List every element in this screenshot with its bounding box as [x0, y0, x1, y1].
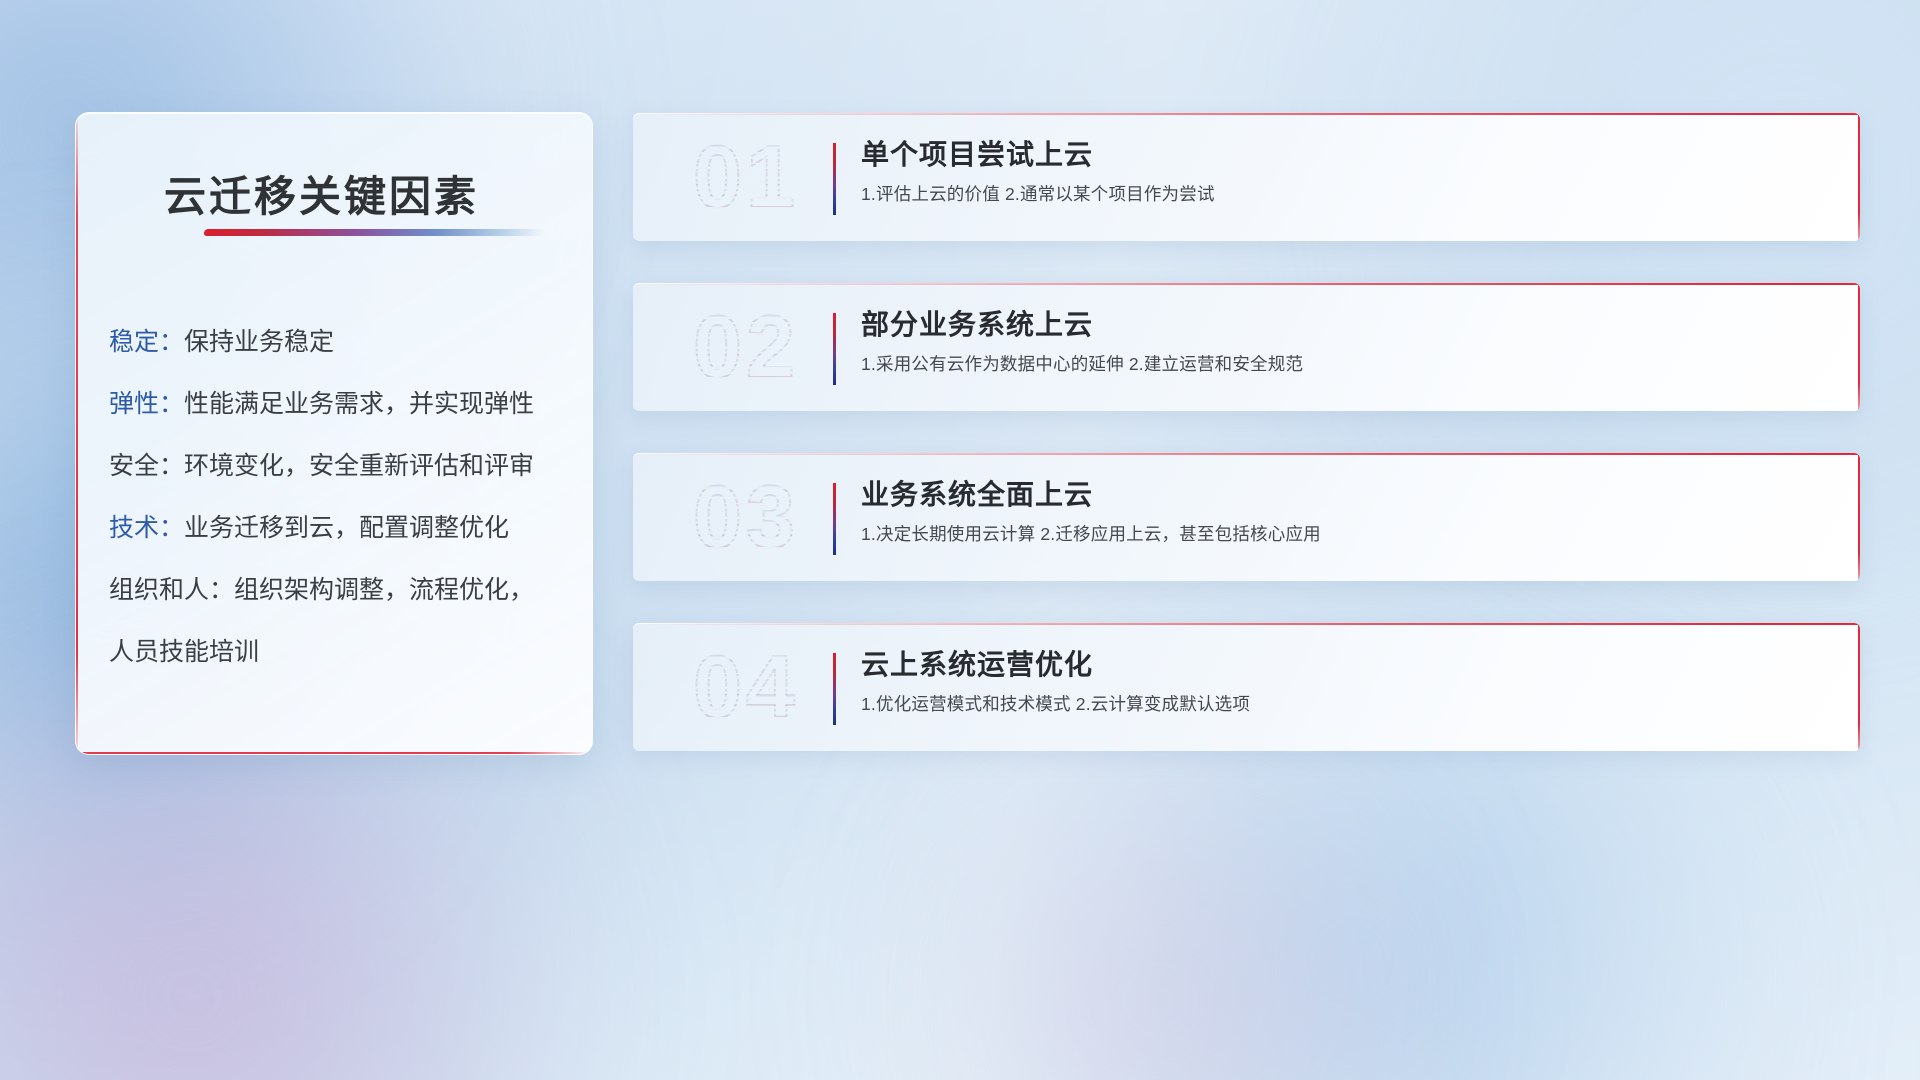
- factor-key: 安全：: [109, 452, 184, 480]
- stage-card-04[interactable]: 04 04 云上系统运营优化 1.优化运营模式和技术模式 2.云计算变成默认选项: [633, 623, 1860, 751]
- factor-value: 业务迁移到云，配置调整优化: [184, 514, 509, 542]
- page-title: 云迁移关键因素: [164, 163, 479, 224]
- factor-key: 组织和人：: [109, 576, 234, 604]
- stage-number-watermark-tint: 03: [655, 459, 837, 575]
- card-accent-divider: [833, 653, 836, 725]
- list-item: 安全：环境变化，安全重新评估和评审: [109, 435, 566, 497]
- key-factors-panel: 云迁移关键因素 稳定：保持业务稳定 弹性：性能满足业务需求，并实现弹性 安全：环…: [75, 112, 593, 755]
- slide-stage: 云迁移关键因素 稳定：保持业务稳定 弹性：性能满足业务需求，并实现弹性 安全：环…: [0, 0, 1920, 1080]
- title-underline-accent: [203, 229, 544, 236]
- list-item: 弹性：性能满足业务需求，并实现弹性: [109, 373, 566, 435]
- list-item: 组织和人：组织架构调整，流程优化，: [109, 559, 566, 621]
- card-subtitle: 1.优化运营模式和技术模式 2.云计算变成默认选项: [861, 687, 1830, 721]
- factor-value: 环境变化，安全重新评估和评审: [184, 452, 534, 480]
- factor-list: 稳定：保持业务稳定 弹性：性能满足业务需求，并实现弹性 安全：环境变化，安全重新…: [109, 311, 566, 683]
- card-body: 部分业务系统上云 1.采用公有云作为数据中心的延伸 2.建立运营和安全规范: [861, 303, 1830, 381]
- stage-card-01[interactable]: 01 01 单个项目尝试上云 1.评估上云的价值 2.通常以某个项目作为尝试: [633, 113, 1860, 241]
- factor-value: 性能满足业务需求，并实现弹性: [184, 390, 534, 418]
- card-body: 云上系统运营优化 1.优化运营模式和技术模式 2.云计算变成默认选项: [861, 643, 1830, 721]
- stage-card-02[interactable]: 02 02 部分业务系统上云 1.采用公有云作为数据中心的延伸 2.建立运营和安…: [633, 283, 1860, 411]
- stage-card-list: 01 01 单个项目尝试上云 1.评估上云的价值 2.通常以某个项目作为尝试 0…: [633, 113, 1860, 793]
- stage-card-03[interactable]: 03 03 业务系统全面上云 1.决定长期使用云计算 2.迁移应用上云，甚至包括…: [633, 453, 1860, 581]
- card-subtitle: 1.评估上云的价值 2.通常以某个项目作为尝试: [861, 177, 1830, 211]
- card-accent-divider: [833, 483, 836, 555]
- stage-number-watermark-tint: 04: [655, 629, 837, 745]
- factor-value-continuation: 人员技能培训: [109, 621, 566, 683]
- factor-key: 技术：: [109, 514, 184, 542]
- list-item: 技术：业务迁移到云，配置调整优化: [109, 497, 566, 559]
- card-accent-divider: [833, 313, 836, 385]
- card-title: 云上系统运营优化: [861, 643, 1830, 687]
- stage-number-watermark-tint: 02: [655, 289, 837, 405]
- card-subtitle: 1.采用公有云作为数据中心的延伸 2.建立运营和安全规范: [861, 347, 1830, 381]
- card-title: 业务系统全面上云: [861, 473, 1830, 517]
- card-accent-divider: [833, 143, 836, 215]
- card-body: 业务系统全面上云 1.决定长期使用云计算 2.迁移应用上云，甚至包括核心应用: [861, 473, 1830, 551]
- factor-value: 组织架构调整，流程优化，: [234, 576, 534, 604]
- card-title: 单个项目尝试上云: [861, 133, 1830, 177]
- card-body: 单个项目尝试上云 1.评估上云的价值 2.通常以某个项目作为尝试: [861, 133, 1830, 211]
- list-item: 稳定：保持业务稳定: [109, 311, 566, 373]
- stage-number-watermark-tint: 01: [655, 119, 837, 235]
- factor-key: 弹性：: [109, 390, 184, 418]
- card-subtitle: 1.决定长期使用云计算 2.迁移应用上云，甚至包括核心应用: [861, 517, 1830, 551]
- card-title: 部分业务系统上云: [861, 303, 1830, 347]
- factor-key: 稳定：: [109, 328, 184, 356]
- factor-value: 保持业务稳定: [184, 328, 334, 356]
